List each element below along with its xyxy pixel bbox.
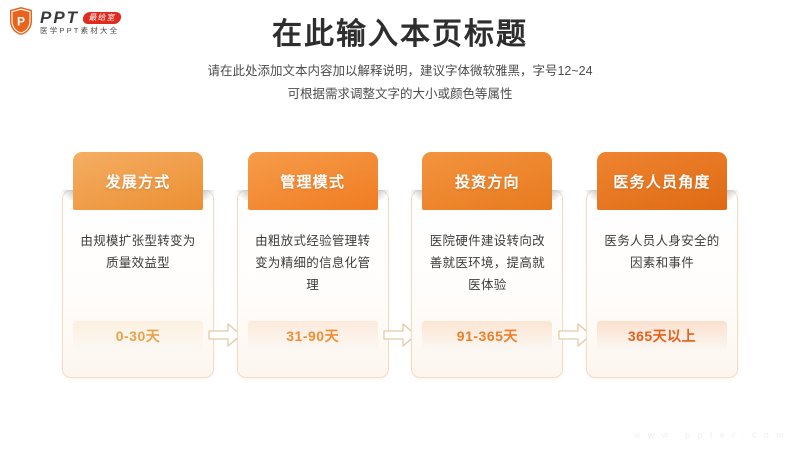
- header-fold-left: [237, 190, 248, 200]
- card-panel: 由粗放式经验管理转变为精细的信息化管理 31-90天: [237, 190, 389, 378]
- flow-step-2[interactable]: 由粗放式经验管理转变为精细的信息化管理 31-90天 管理模式: [237, 152, 389, 382]
- page-subtitle-line-1: 请在此处添加文本内容加以解释说明，建议字体微软雅黑，字号12~24: [0, 60, 800, 83]
- card-header-label[interactable]: 投资方向: [422, 152, 552, 210]
- header-fold-right: [552, 190, 563, 200]
- card-body-text: 由规模扩张型转变为质量效益型: [63, 231, 213, 275]
- header-fold-left: [62, 190, 73, 200]
- card-body-text: 医院硬件建设转向改善就医环境，提高就医体验: [412, 231, 562, 297]
- card-panel: 医务人员人身安全的因素和事件 365天以上: [586, 190, 738, 378]
- card-duration-badge: 365天以上: [597, 321, 727, 351]
- card-header-label[interactable]: 发展方式: [73, 152, 203, 210]
- header-fold-left: [411, 190, 422, 200]
- card-duration-badge: 91-365天: [422, 321, 552, 351]
- header-fold-right: [378, 190, 389, 200]
- connector-2: [389, 152, 412, 382]
- page-title: 在此输入本页标题: [0, 18, 800, 53]
- page-subtitle: 请在此处添加文本内容加以解释说明，建议字体微软雅黑，字号12~24 可根据需求调…: [0, 60, 800, 106]
- connector-1: [214, 152, 237, 382]
- card-duration-badge: 31-90天: [248, 321, 378, 351]
- card-panel: 由规模扩张型转变为质量效益型 0-30天: [62, 190, 214, 378]
- process-flow: 由规模扩张型转变为质量效益型 0-30天 发展方式 由粗放式经验管理转变为精细的…: [62, 152, 738, 382]
- card-duration-badge: 0-30天: [73, 321, 203, 351]
- card-header-label[interactable]: 管理模式: [248, 152, 378, 210]
- connector-3: [563, 152, 586, 382]
- header-fold-left: [586, 190, 597, 200]
- flow-step-3[interactable]: 医院硬件建设转向改善就医环境，提高就医体验 91-365天 投资方向: [411, 152, 563, 382]
- flow-step-4[interactable]: 医务人员人身安全的因素和事件 365天以上 医务人员角度: [586, 152, 738, 382]
- card-panel: 医院硬件建设转向改善就医环境，提高就医体验 91-365天: [411, 190, 563, 378]
- flow-step-1[interactable]: 由规模扩张型转变为质量效益型 0-30天 发展方式: [62, 152, 214, 382]
- card-body-text: 由粗放式经验管理转变为精细的信息化管理: [238, 231, 388, 297]
- watermark: w w w . p p t e r . c o m: [634, 430, 786, 440]
- page-subtitle-line-2: 可根据需求调整文字的大小或颜色等属性: [0, 83, 800, 106]
- header-fold-right: [727, 190, 738, 200]
- card-header-label[interactable]: 医务人员角度: [597, 152, 727, 210]
- card-body-text: 医务人员人身安全的因素和事件: [587, 231, 737, 275]
- header-fold-right: [203, 190, 214, 200]
